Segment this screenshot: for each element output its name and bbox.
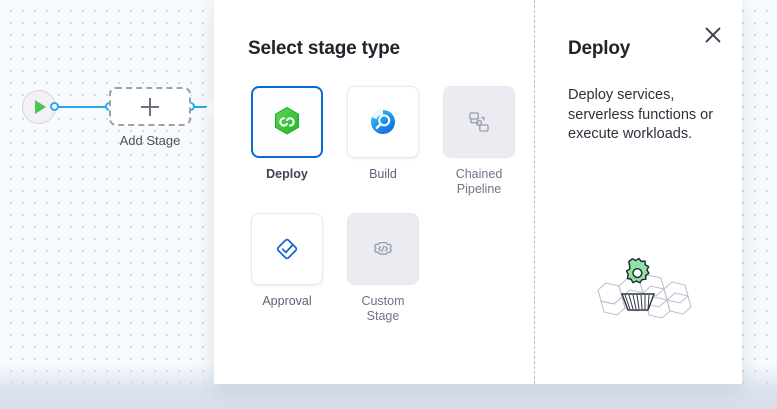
modal-left-pane: Select stage type xyxy=(214,0,534,384)
stage-tile-deploy[interactable] xyxy=(251,86,323,158)
build-magnifier-circle-icon xyxy=(367,106,399,138)
detail-title: Deploy xyxy=(568,38,718,60)
chained-pipeline-nodes-icon xyxy=(464,107,494,137)
stage-option-custom-stage: Custom Stage xyxy=(344,213,422,324)
stage-tile-approval[interactable] xyxy=(251,213,323,285)
stage-label-build: Build xyxy=(344,167,422,182)
connector-edge-start xyxy=(56,106,110,108)
stage-option-deploy[interactable]: Deploy xyxy=(248,86,326,197)
stage-type-grid: Deploy xyxy=(248,86,534,340)
stage-option-chained-pipeline: Chained Pipeline xyxy=(440,86,518,197)
add-stage-label: Add Stage xyxy=(109,133,191,148)
stage-option-build[interactable]: Build xyxy=(344,86,422,197)
stage-label-approval: Approval xyxy=(248,294,326,309)
stage-option-approval[interactable]: Approval xyxy=(248,213,326,324)
stage-label-chained-pipeline: Chained Pipeline xyxy=(440,167,518,197)
deploy-hexagon-infinity-icon xyxy=(270,105,304,139)
custom-stage-gear-code-icon xyxy=(368,234,398,264)
modal-detail-pane: Deploy Deploy services, serverless funct… xyxy=(534,0,742,384)
connector-port-start[interactable] xyxy=(50,102,59,111)
close-icon[interactable] xyxy=(702,24,724,46)
add-stage-node[interactable] xyxy=(109,87,191,126)
stage-tile-chained-pipeline xyxy=(443,86,515,158)
stage-tile-build[interactable] xyxy=(347,86,419,158)
stage-label-deploy: Deploy xyxy=(248,167,326,182)
page-title: Select stage type xyxy=(248,38,534,60)
plus-icon xyxy=(141,98,159,116)
deploy-gear-hexagons-illustration xyxy=(570,250,712,332)
detail-description: Deploy services, serverless functions or… xyxy=(568,86,718,145)
play-icon xyxy=(35,100,46,114)
pipeline-studio-screen: Add Stage Select stage type xyxy=(0,0,777,409)
approval-diamond-check-icon xyxy=(271,233,303,265)
select-stage-type-modal: Select stage type xyxy=(214,0,742,384)
stage-tile-custom-stage xyxy=(347,213,419,285)
stage-label-custom-stage: Custom Stage xyxy=(344,294,422,324)
